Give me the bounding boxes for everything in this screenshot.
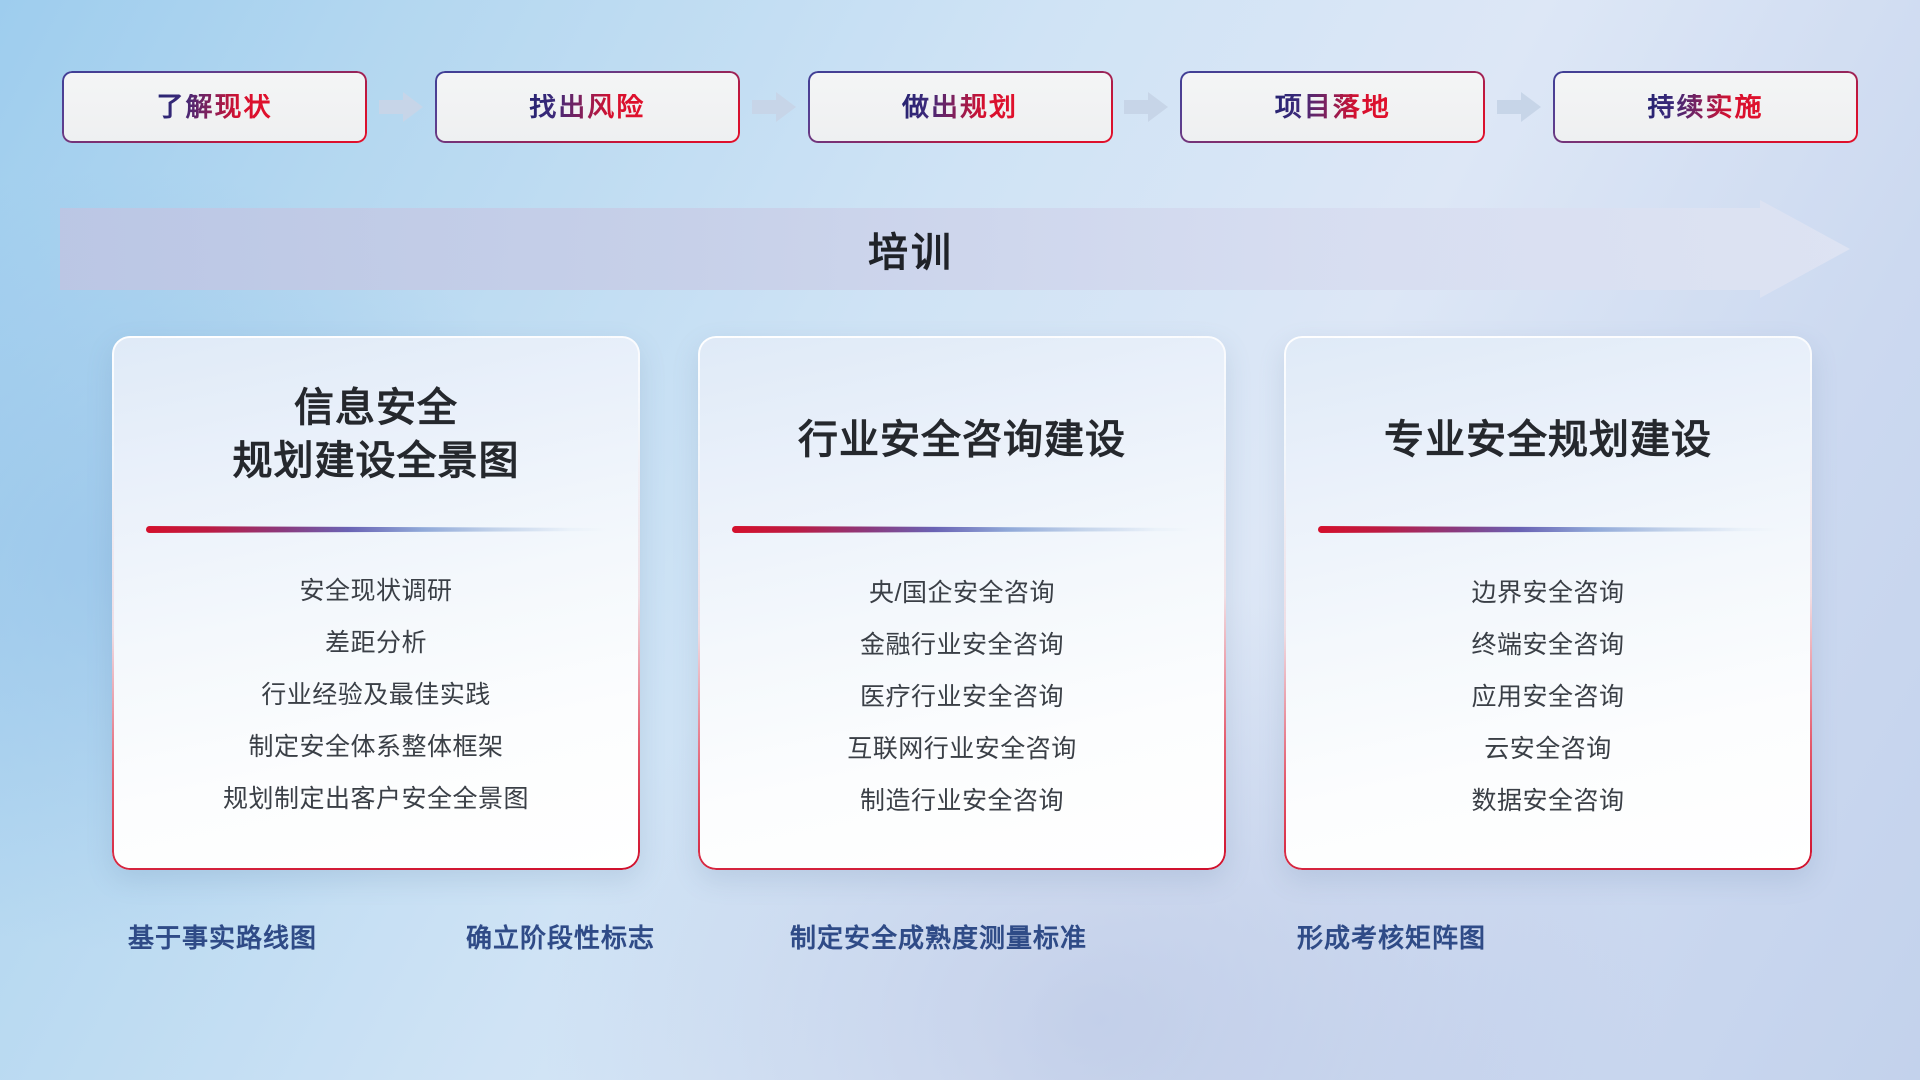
card-divider — [146, 526, 606, 533]
list-item: 差距分析 — [112, 631, 640, 656]
card-security-blueprint[interactable]: 信息安全 规划建设全景图 安全现状调研 差距分析 行业经验及最佳实践 制定安全体… — [112, 336, 640, 870]
card-row: 信息安全 规划建设全景图 安全现状调研 差距分析 行业经验及最佳实践 制定安全体… — [112, 336, 1812, 870]
list-item: 制造行业安全咨询 — [698, 789, 1226, 814]
list-item: 数据安全咨询 — [1284, 789, 1812, 814]
outcome-label-2: 确立阶段性标志 — [466, 918, 655, 955]
flow-step-3-label: 做出规划 — [902, 94, 1018, 121]
flow-step-3[interactable]: 做出规划 — [808, 71, 1113, 143]
list-item: 金融行业安全咨询 — [698, 633, 1226, 658]
card-item-list: 边界安全咨询 终端安全咨询 应用安全咨询 云安全咨询 数据安全咨询 — [1284, 581, 1812, 814]
card-title: 信息安全 规划建设全景图 — [112, 382, 640, 488]
card-divider — [1318, 526, 1778, 533]
list-item: 央/国企安全咨询 — [698, 581, 1226, 606]
card-divider — [732, 526, 1192, 533]
card-title: 行业安全咨询建设 — [698, 414, 1226, 467]
list-item: 互联网行业安全咨询 — [698, 737, 1226, 762]
slide-canvas: 了解现状 找出风险 做出规划 项目落地 — [0, 0, 1920, 1080]
flow-step-1-label: 了解现状 — [157, 94, 273, 121]
flow-step-2[interactable]: 找出风险 — [435, 71, 740, 143]
process-flow-row: 了解现状 找出风险 做出规划 项目落地 — [62, 68, 1858, 146]
card-item-list: 安全现状调研 差距分析 行业经验及最佳实践 制定安全体系整体框架 规划制定出客户… — [112, 579, 640, 812]
list-item: 终端安全咨询 — [1284, 633, 1812, 658]
list-item: 应用安全咨询 — [1284, 685, 1812, 710]
training-banner: 培训 — [60, 200, 1850, 298]
arrow-right-icon — [752, 90, 796, 124]
outcome-label-4: 形成考核矩阵图 — [1297, 918, 1486, 955]
outcome-label-3: 制定安全成熟度测量标准 — [790, 918, 1087, 955]
flow-step-5[interactable]: 持续实施 — [1553, 71, 1858, 143]
list-item: 制定安全体系整体框架 — [112, 735, 640, 760]
arrow-right-icon — [1497, 90, 1541, 124]
list-item: 医疗行业安全咨询 — [698, 685, 1226, 710]
flow-step-5-label: 持续实施 — [1648, 94, 1764, 121]
list-item: 云安全咨询 — [1284, 737, 1812, 762]
list-item: 边界安全咨询 — [1284, 581, 1812, 606]
banner-title: 培训 — [60, 200, 1762, 298]
list-item: 安全现状调研 — [112, 579, 640, 604]
flow-step-2-label: 找出风险 — [529, 94, 645, 121]
card-title: 专业安全规划建设 — [1284, 414, 1812, 467]
arrow-right-icon — [1124, 90, 1168, 124]
flow-step-4-label: 项目落地 — [1275, 94, 1391, 121]
outcome-label-1: 基于事实路线图 — [128, 918, 317, 955]
card-professional-planning[interactable]: 专业安全规划建设 边界安全咨询 终端安全咨询 应用安全咨询 云安全咨询 数据安全… — [1284, 336, 1812, 870]
arrow-right-icon — [379, 90, 423, 124]
flow-step-4[interactable]: 项目落地 — [1180, 71, 1485, 143]
list-item: 行业经验及最佳实践 — [112, 683, 640, 708]
card-industry-consulting[interactable]: 行业安全咨询建设 央/国企安全咨询 金融行业安全咨询 医疗行业安全咨询 互联网行… — [698, 336, 1226, 870]
flow-step-1[interactable]: 了解现状 — [62, 71, 367, 143]
list-item: 规划制定出客户安全全景图 — [112, 787, 640, 812]
card-item-list: 央/国企安全咨询 金融行业安全咨询 医疗行业安全咨询 互联网行业安全咨询 制造行… — [698, 581, 1226, 814]
